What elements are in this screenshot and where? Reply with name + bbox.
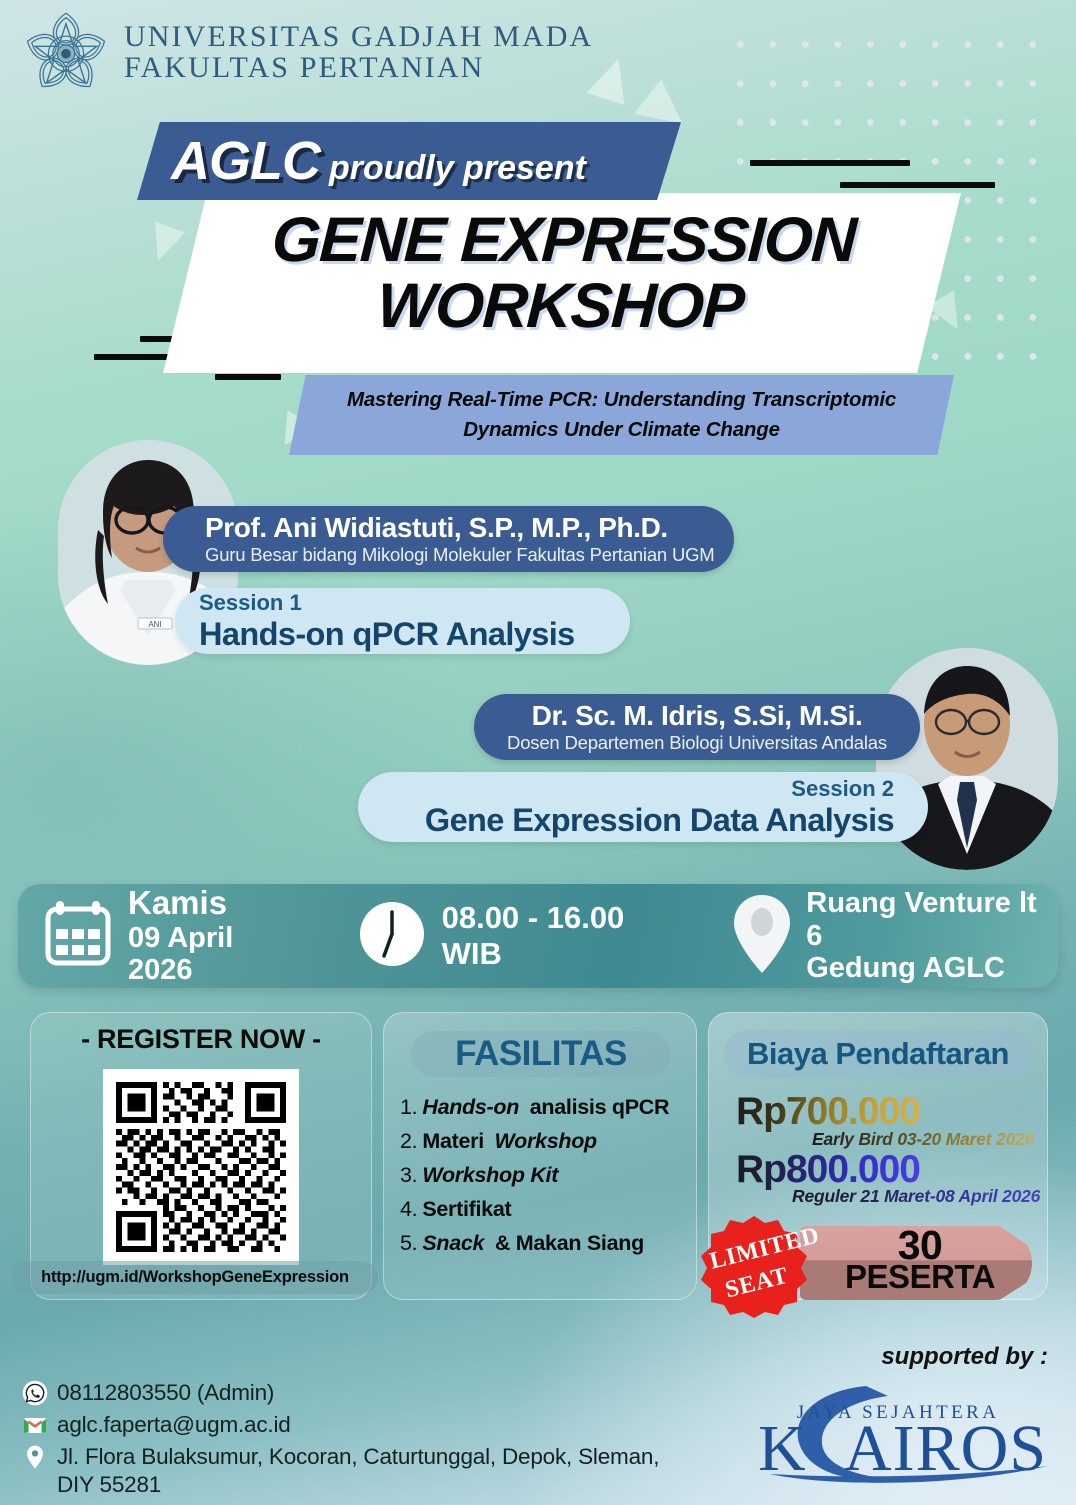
speaker-1-name: Prof. Ani Widiastuti, S.P., M.P., Ph.D.	[205, 512, 734, 544]
event-info-banner: Kamis 09 April 2026 08.00 - 16.00 WIB	[18, 884, 1058, 988]
line-decoration	[215, 374, 281, 380]
faculty-name: FAKULTAS PERTANIAN	[124, 52, 593, 83]
session-2-title: Gene Expression Data Analysis	[425, 802, 894, 839]
speaker-1-affiliation: Guru Besar bidang Mikologi Molekuler Fak…	[205, 544, 734, 566]
email-address: aglc.faperta@ugm.ac.id	[57, 1411, 291, 1439]
event-time-text: 08.00 - 16.00 WIB	[442, 900, 691, 972]
subtitle-line-2: Dynamics Under Climate Change	[463, 418, 780, 442]
event-place-line-2: Gedung AGLC	[806, 952, 1058, 984]
svg-text:ANI: ANI	[148, 620, 161, 629]
gmail-icon	[22, 1412, 48, 1438]
contact-block: 08112803550 (Admin) aglc.faperta@ugm.ac.…	[22, 1379, 722, 1504]
supported-by-label: supported by :	[881, 1343, 1048, 1371]
map-pin-icon	[22, 1444, 48, 1470]
speaker-2-affiliation: Dosen Departemen Biologi Universitas And…	[507, 732, 887, 754]
title-line-2: WORKSHOP	[160, 274, 961, 338]
subtitle-banner: Mastering Real-Time PCR: Understanding T…	[289, 375, 954, 455]
poster-root: UNIVERSITAS GADJAH MADA FAKULTAS PERTANI…	[0, 0, 1076, 1505]
session-1-number: Session 1	[199, 590, 630, 616]
contact-whatsapp[interactable]: 08112803550 (Admin)	[22, 1379, 722, 1407]
aglc-label: AGLC	[171, 130, 320, 192]
list-item: 1.Hands-on analisis qPCR	[400, 1095, 700, 1120]
calendar-icon	[42, 897, 114, 974]
clock-icon	[356, 898, 428, 975]
svg-text:AIROS: AIROS	[844, 1412, 1047, 1485]
contact-address: Jl. Flora Bulaksumur, Kocoran, Caturtung…	[22, 1443, 722, 1499]
line-decoration	[840, 182, 995, 188]
speaker-2-name-pill: Dr. Sc. M. Idris, S.Si, M.Si. Dosen Depa…	[474, 694, 920, 760]
contact-email[interactable]: aglc.faperta@ugm.ac.id	[22, 1411, 722, 1439]
early-bird-note: Early Bird 03-20 Maret 2026	[812, 1129, 1034, 1150]
facilities-title: FASILITAS	[411, 1031, 671, 1077]
limited-seat-stamp: LIMITED SEAT	[697, 1214, 811, 1318]
early-bird-price: Rp700.000	[736, 1090, 920, 1134]
ugm-header: UNIVERSITAS GADJAH MADA FAKULTAS PERTANI…	[22, 8, 593, 96]
facilities-list: 1.Hands-on analisis qPCR 2.Materi Worksh…	[400, 1095, 700, 1265]
register-title: - REGISTER NOW -	[30, 1024, 372, 1055]
proudly-present-label: proudly present	[329, 149, 586, 188]
pricing-title: Biaya Pendaftaran	[724, 1030, 1032, 1078]
qr-code-icon[interactable]	[103, 1069, 299, 1265]
event-time: 08.00 - 16.00 WIB	[356, 898, 691, 975]
speaker-1-name-pill: Prof. Ani Widiastuti, S.P., M.P., Ph.D. …	[163, 506, 734, 572]
event-day: Kamis	[128, 885, 304, 922]
ugm-crest-icon	[22, 8, 110, 96]
list-item: 5.Snack & Makan Siang	[400, 1231, 700, 1256]
session-1-title: Hands-on qPCR Analysis	[199, 616, 630, 653]
aglc-ribbon: AGLC proudly present	[137, 122, 681, 200]
list-item: 3.Workshop Kit	[400, 1163, 700, 1188]
address-text: Jl. Flora Bulaksumur, Kocoran, Caturtung…	[57, 1443, 697, 1499]
map-pin-icon	[732, 893, 792, 980]
subtitle-line-1: Mastering Real-Time PCR: Understanding T…	[347, 388, 896, 412]
list-item: 2.Materi Workshop	[400, 1129, 700, 1154]
ugm-wordmark: UNIVERSITAS GADJAH MADA FAKULTAS PERTANI…	[124, 21, 593, 83]
event-place-line-1: Ruang Venture lt 6	[806, 887, 1058, 952]
whatsapp-icon	[22, 1380, 48, 1406]
list-item: 4.Sertifikat	[400, 1197, 700, 1222]
kairos-logo: JAYA SEJAHTERA K AIROS	[748, 1378, 1066, 1490]
regular-note: Reguler 21 Maret-08 April 2026	[792, 1186, 1040, 1207]
title-line-1: GENE EXPRESSION	[270, 205, 857, 275]
line-decoration	[750, 160, 910, 166]
event-place: Ruang Venture lt 6 Gedung AGLC	[732, 887, 1058, 984]
whatsapp-number: 08112803550 (Admin)	[57, 1379, 274, 1407]
session-2-pill: Session 2 Gene Expression Data Analysis	[358, 772, 928, 842]
register-url[interactable]: http://ugm.id/WorkshopGeneExpression	[12, 1261, 378, 1294]
seat-label: PESERTA	[825, 1258, 1015, 1296]
svg-text:K: K	[758, 1412, 807, 1485]
session-1-pill: Session 1 Hands-on qPCR Analysis	[175, 588, 630, 654]
event-date: Kamis 09 April 2026	[42, 885, 304, 987]
speaker-2-name: Dr. Sc. M. Idris, S.Si, M.Si.	[532, 700, 863, 732]
event-date-full: 09 April 2026	[128, 922, 304, 987]
triangle-decoration	[586, 53, 637, 105]
university-name: UNIVERSITAS GADJAH MADA	[124, 21, 593, 52]
session-2-number: Session 2	[791, 776, 894, 802]
page-title: GENE EXPRESSION WORKSHOP	[160, 208, 965, 339]
